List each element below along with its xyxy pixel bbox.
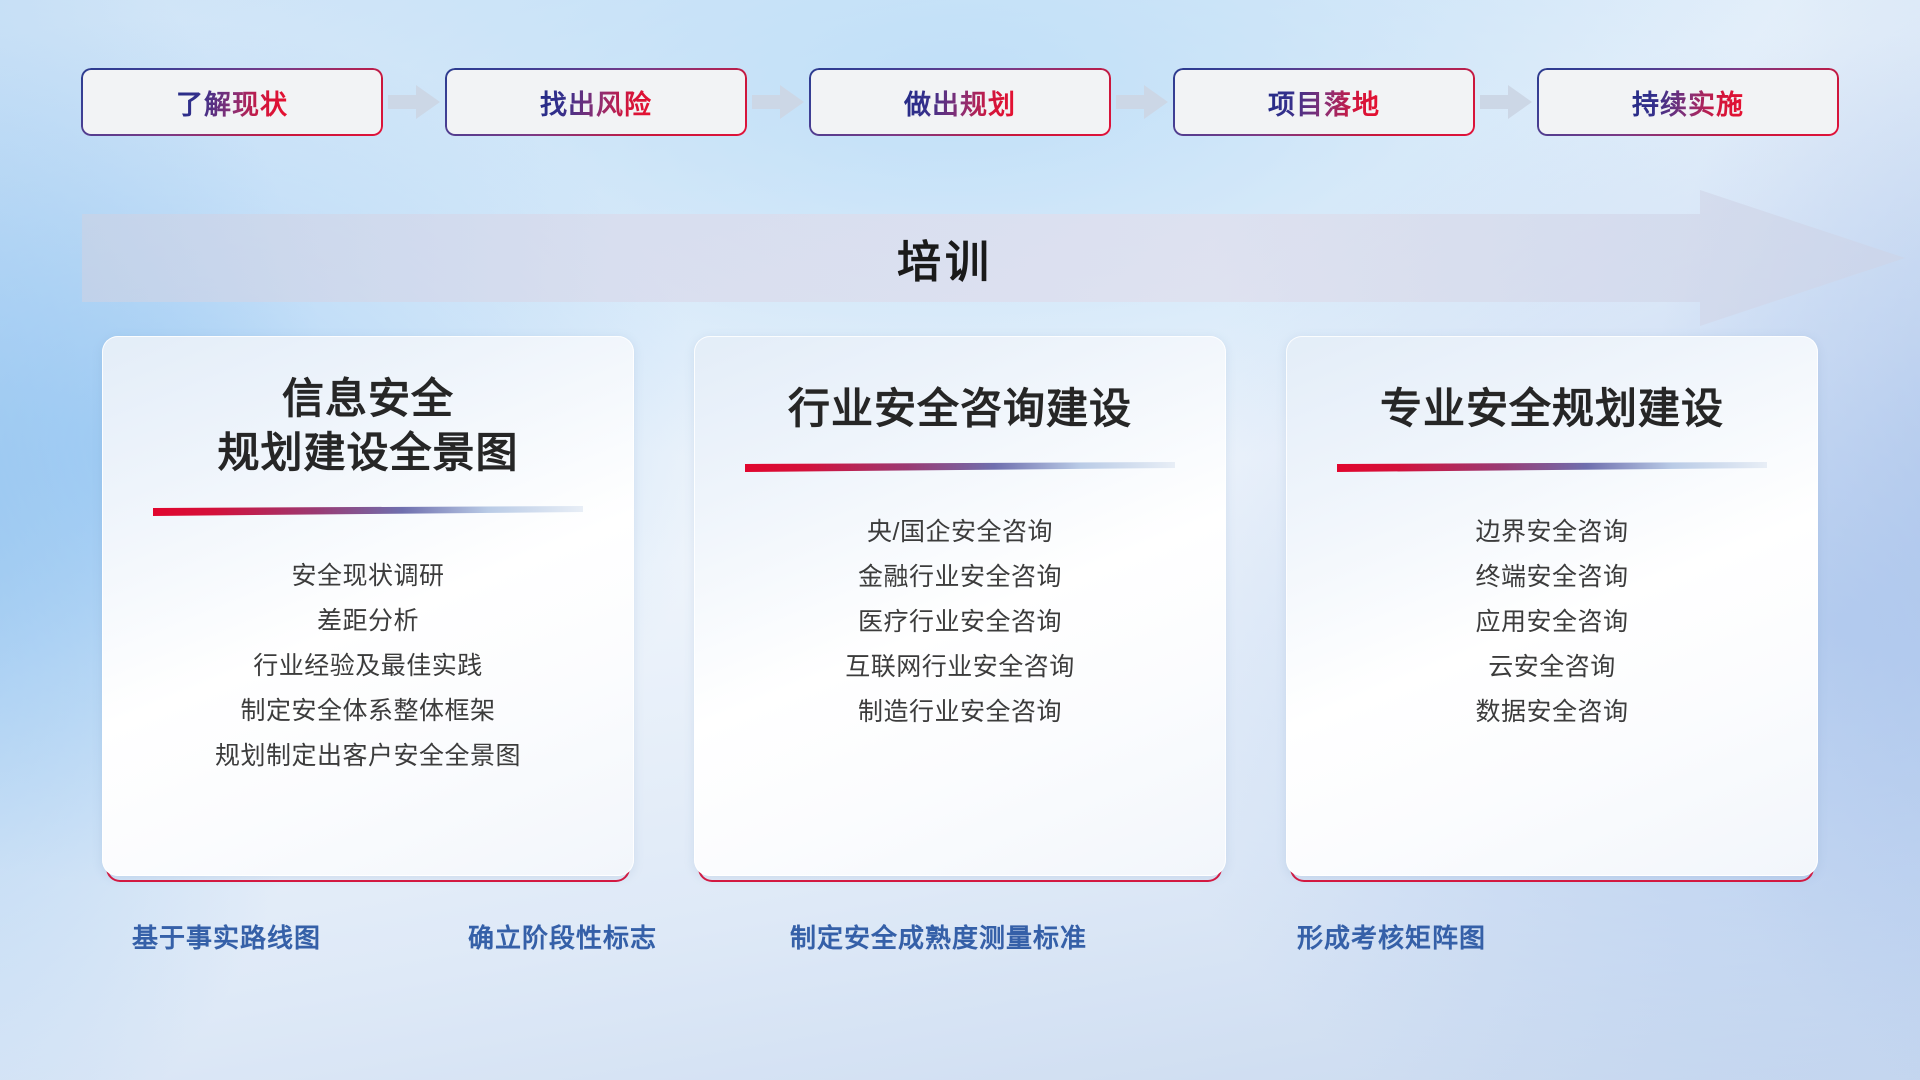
card-title-2: 行业安全咨询建设 bbox=[788, 382, 1132, 436]
step-box-2[interactable]: 找出风险 bbox=[445, 68, 747, 136]
step-arrow-icon-3 bbox=[1111, 82, 1173, 122]
list-item[interactable]: 央/国企安全咨询 bbox=[728, 510, 1192, 555]
card-title-1: 信息安全 规划建设全景图 bbox=[217, 372, 518, 480]
list-item[interactable]: 数据安全咨询 bbox=[1320, 690, 1784, 735]
card-1[interactable]: 信息安全 规划建设全景图 bbox=[102, 336, 634, 876]
training-band: 培训 bbox=[0, 190, 1920, 326]
step-label-5: 持续实施 bbox=[1632, 83, 1744, 122]
list-item[interactable]: 差距分析 bbox=[136, 599, 600, 644]
footer-label-2: 确立阶段性标志 bbox=[468, 918, 657, 955]
step-box-3[interactable]: 做出规划 bbox=[809, 68, 1111, 136]
list-item[interactable]: 互联网行业安全咨询 bbox=[728, 645, 1192, 690]
step-box-5[interactable]: 持续实施 bbox=[1537, 68, 1839, 136]
card-list-1: 安全现状调研 差距分析 行业经验及最佳实践 制定安全体系整体框架 规划制定出客户… bbox=[136, 554, 600, 779]
footer-label-1: 基于事实路线图 bbox=[132, 918, 321, 955]
step-arrow-icon-2 bbox=[747, 82, 809, 122]
card-3[interactable]: 专业安全规划建设 bbox=[1286, 336, 1818, 876]
list-item[interactable]: 医疗行业安全咨询 bbox=[728, 600, 1192, 645]
step-label-3: 做出规划 bbox=[904, 83, 1016, 122]
list-item[interactable]: 安全现状调研 bbox=[136, 554, 600, 599]
footer-label-row: 基于事实路线图 确立阶段性标志 制定安全成熟度测量标准 形成考核矩阵图 bbox=[0, 918, 1920, 968]
step-label-4: 项目落地 bbox=[1268, 83, 1380, 122]
step-arrow-icon-1 bbox=[383, 82, 445, 122]
card-row: 信息安全 规划建设全景图 bbox=[0, 336, 1920, 876]
step-arrow-icon-4 bbox=[1475, 82, 1537, 122]
card-title-3: 专业安全规划建设 bbox=[1380, 382, 1724, 436]
card-wrap-3: 专业安全规划建设 bbox=[1286, 336, 1818, 876]
list-item[interactable]: 金融行业安全咨询 bbox=[728, 555, 1192, 600]
card-wrap-1: 信息安全 规划建设全景图 bbox=[102, 336, 634, 876]
step-box-1[interactable]: 了解现状 bbox=[81, 68, 383, 136]
card-2[interactable]: 行业安全咨询建设 bbox=[694, 336, 1226, 876]
list-item[interactable]: 终端安全咨询 bbox=[1320, 555, 1784, 600]
footer-label-4: 形成考核矩阵图 bbox=[1297, 918, 1486, 955]
card-divider-2 bbox=[745, 462, 1175, 474]
step-box-4[interactable]: 项目落地 bbox=[1173, 68, 1475, 136]
card-list-3: 边界安全咨询 终端安全咨询 应用安全咨询 云安全咨询 数据安全咨询 bbox=[1320, 510, 1784, 735]
list-item[interactable]: 云安全咨询 bbox=[1320, 645, 1784, 690]
footer-label-3: 制定安全成熟度测量标准 bbox=[790, 918, 1087, 955]
card-wrap-2: 行业安全咨询建设 bbox=[694, 336, 1226, 876]
slide-canvas: 了解现状 找出风险 做出规划 项目落地 bbox=[0, 0, 1920, 1080]
step-label-2: 找出风险 bbox=[540, 83, 652, 122]
card-divider-3 bbox=[1337, 462, 1767, 474]
card-list-2: 央/国企安全咨询 金融行业安全咨询 医疗行业安全咨询 互联网行业安全咨询 制造行… bbox=[728, 510, 1192, 735]
list-item[interactable]: 边界安全咨询 bbox=[1320, 510, 1784, 555]
band-title: 培训 bbox=[0, 190, 1920, 326]
card-divider-1 bbox=[153, 506, 583, 518]
step-label-1: 了解现状 bbox=[176, 83, 288, 122]
list-item[interactable]: 应用安全咨询 bbox=[1320, 600, 1784, 645]
list-item[interactable]: 制造行业安全咨询 bbox=[728, 690, 1192, 735]
list-item[interactable]: 制定安全体系整体框架 bbox=[136, 689, 600, 734]
list-item[interactable]: 行业经验及最佳实践 bbox=[136, 644, 600, 689]
list-item[interactable]: 规划制定出客户安全全景图 bbox=[136, 734, 600, 779]
process-step-row: 了解现状 找出风险 做出规划 项目落地 bbox=[0, 68, 1920, 136]
